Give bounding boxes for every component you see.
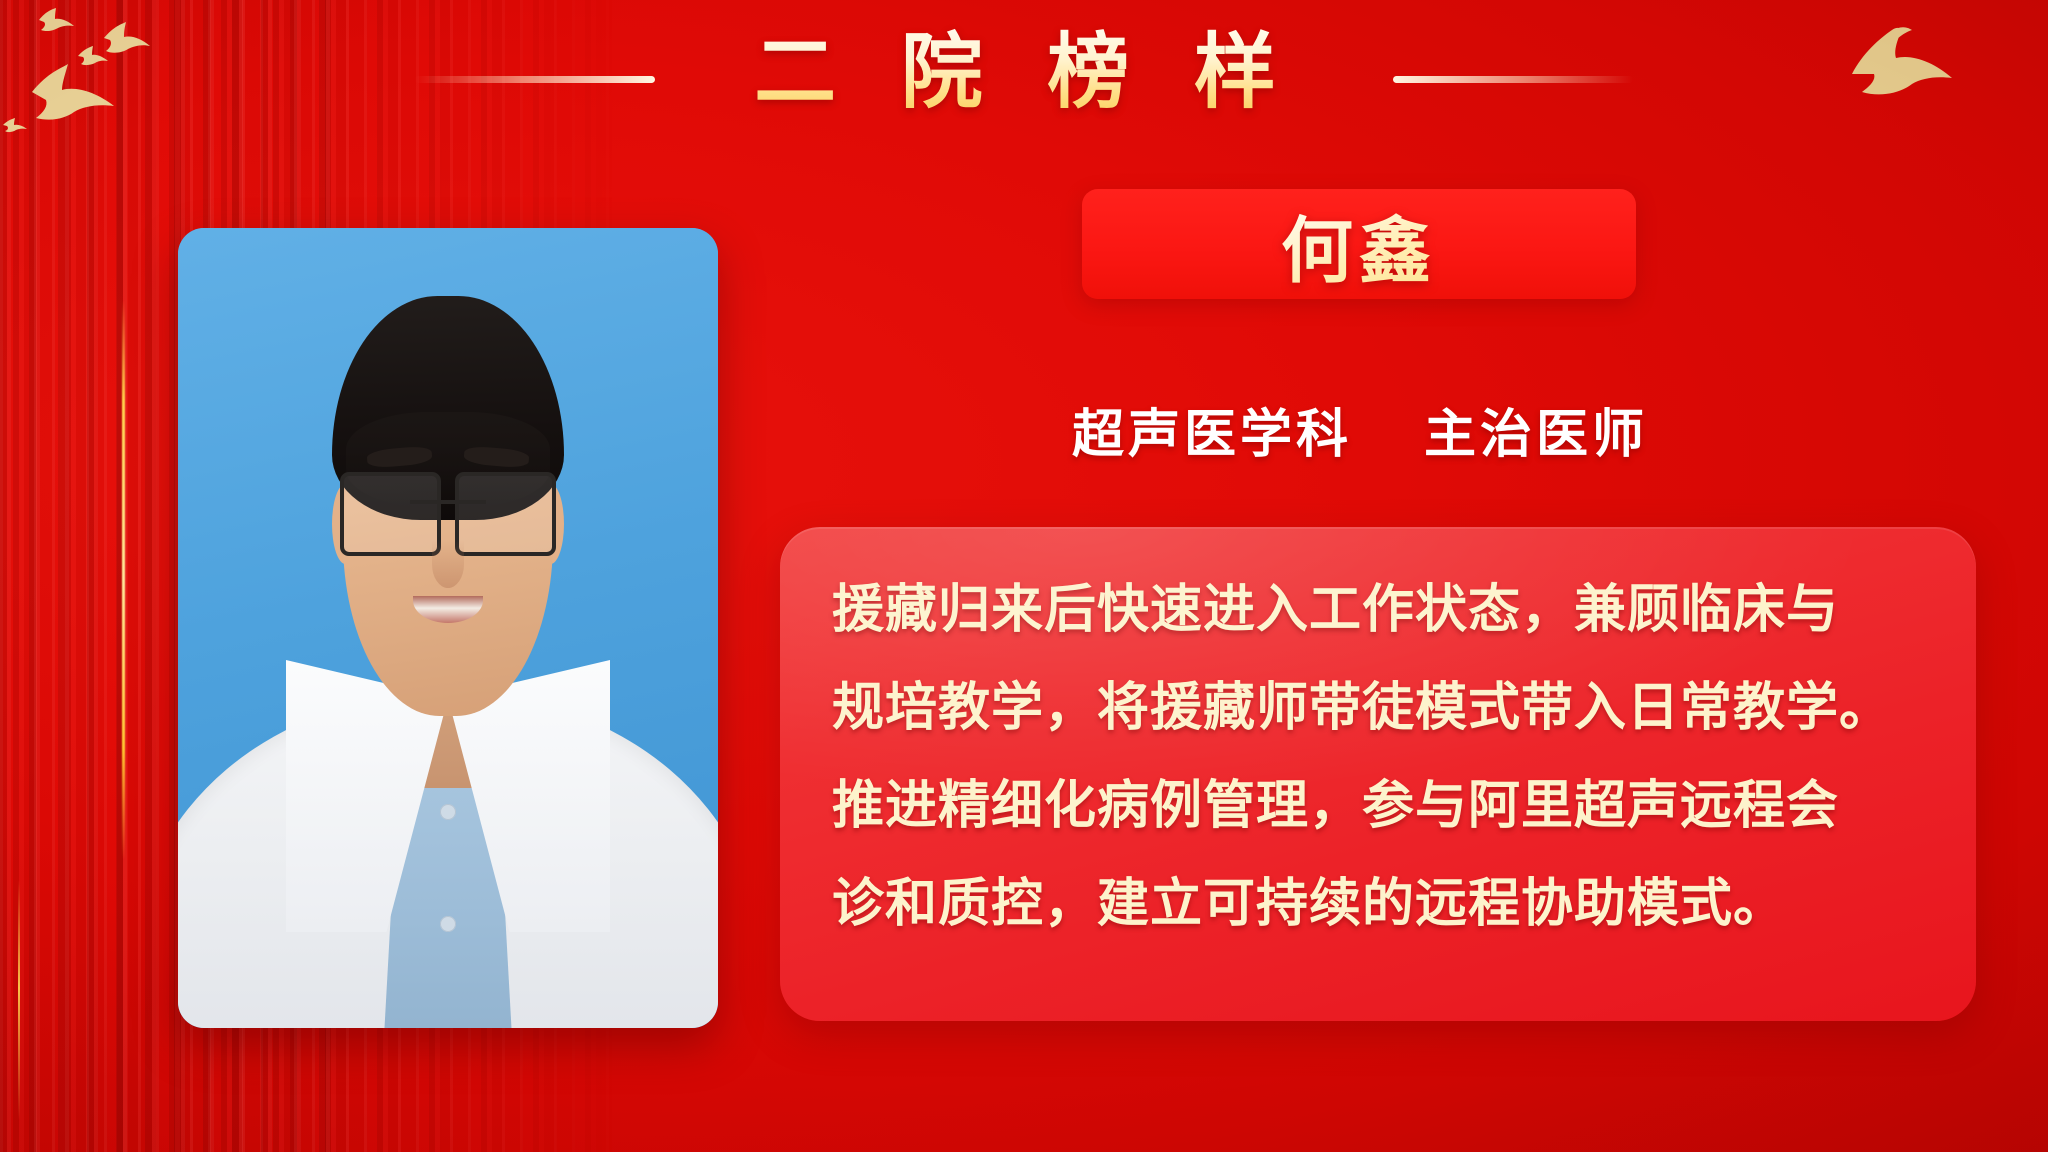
gold-accent-line xyxy=(122,300,125,860)
person-name: 何鑫 xyxy=(1082,189,1636,299)
description-line: 推进精细化病例管理，参与阿里超声远程会 xyxy=(832,757,1924,855)
description-line: 诊和质控，建立可持续的远程协助模式。 xyxy=(832,855,1924,953)
portrait-glasses xyxy=(340,472,556,548)
glasses-bridge xyxy=(410,500,486,504)
glasses-lens-right xyxy=(455,472,556,556)
department-title-line: 超声医学科主治医师 xyxy=(760,392,1960,467)
poster-header: 二 院 榜 样 xyxy=(0,0,2048,160)
description-text: 援藏归来后快速进入工作状态，兼顾临床与 规培教学，将援藏师带徒模式带入日常教学。… xyxy=(832,561,1924,953)
portrait-nose xyxy=(432,540,464,588)
description-card: 援藏归来后快速进入工作状态，兼顾临床与 规培教学，将援藏师带徒模式带入日常教学。… xyxy=(780,527,1976,1021)
description-line: 规培教学，将援藏师带徒模式带入日常教学。 xyxy=(832,659,1924,757)
shirt-button xyxy=(440,916,456,932)
portrait-image xyxy=(178,228,718,1028)
page-title: 二 院 榜 样 xyxy=(0,18,2048,126)
portrait-photo xyxy=(178,228,718,1028)
poster-root: 二 院 榜 样 何鑫 xyxy=(0,0,2048,1152)
glasses-lens-left xyxy=(340,472,441,556)
shirt-button xyxy=(440,804,456,820)
name-banner: 何鑫 xyxy=(1082,189,1636,299)
gold-accent-line-lower xyxy=(18,880,20,1120)
department-label: 超声医学科 xyxy=(1072,404,1352,465)
job-title-label: 主治医师 xyxy=(1424,404,1648,465)
description-line: 援藏归来后快速进入工作状态，兼顾临床与 xyxy=(832,561,1924,659)
